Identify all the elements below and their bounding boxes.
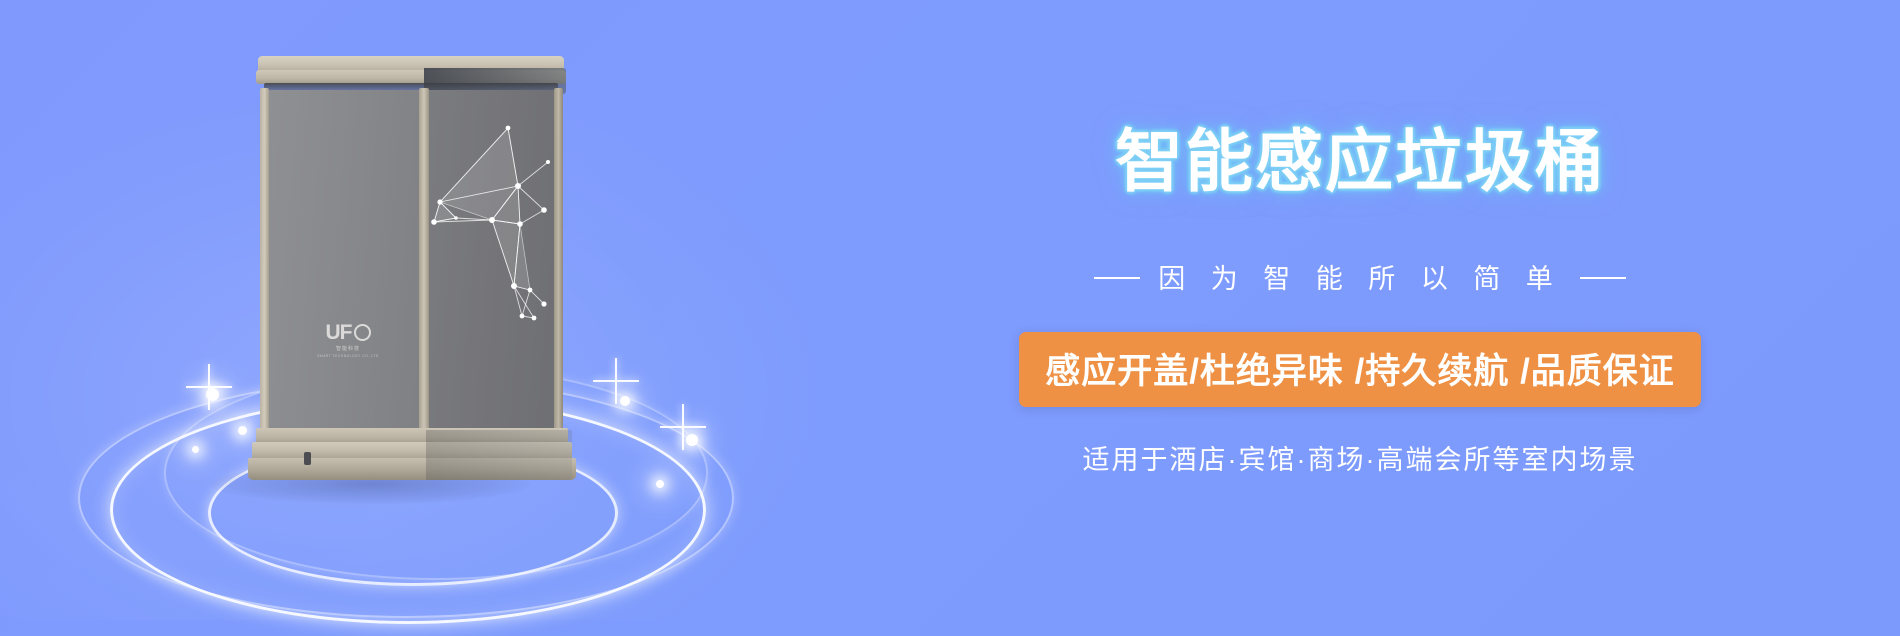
trash-bin-product: UF 智能科技 SMART TECHNOLOGY CO.,LTD [256, 56, 566, 476]
bin-body-right-face [426, 90, 558, 430]
bin-edge-right [554, 88, 563, 434]
sparkle-icon [238, 426, 247, 435]
bin-body-left-face [266, 90, 426, 430]
sparkle-icon [686, 434, 698, 446]
bin-base-shadow [426, 430, 572, 480]
bin-edge-center [419, 88, 429, 434]
feature-bar: 感应开盖/杜绝异味 /持久续航 /品质保证 [880, 332, 1840, 407]
subheadline-text: 因 为 智 能 所 以 简 单 [1158, 257, 1562, 296]
sparkle-icon [192, 446, 199, 453]
brand-logo-ring-icon [354, 324, 371, 341]
marketing-copy: 智能感应垃圾桶 因 为 智 能 所 以 简 单 感应开盖/杜绝异味 /持久续航 … [880, 0, 1840, 636]
bin-base-latch [304, 452, 311, 465]
usage-scene-text: 适用于酒店·宾馆·商场·高端会所等室内场景 [880, 438, 1840, 477]
subheadline: 因 为 智 能 所 以 简 单 [880, 258, 1840, 297]
brand-logo-subtitle: 智能科技 [310, 346, 386, 354]
feature-bar-text: 感应开盖/杜绝异味 /持久续航 /品质保证 [1019, 332, 1701, 407]
dash-left [1094, 277, 1140, 279]
sparkle-icon [620, 396, 630, 406]
promo-banner: UF 智能科技 SMART TECHNOLOGY CO.,LTD 智能感应垃圾桶… [0, 0, 1900, 636]
dash-right [1580, 277, 1626, 279]
brand-logo-mark: UF [310, 322, 386, 343]
sparkle-icon [206, 388, 219, 401]
brand-logo-text: UF [326, 322, 352, 343]
product-image-area: UF 智能科技 SMART TECHNOLOGY CO.,LTD [60, 28, 820, 608]
headline: 智能感应垃圾桶 [880, 128, 1840, 196]
polygon-network-graphic [426, 90, 558, 430]
bin-edge-left [260, 88, 269, 434]
sparkle-icon [656, 480, 664, 488]
brand-logo: UF 智能科技 SMART TECHNOLOGY CO.,LTD [310, 322, 386, 358]
brand-logo-subtitle-en: SMART TECHNOLOGY CO.,LTD [312, 354, 384, 358]
